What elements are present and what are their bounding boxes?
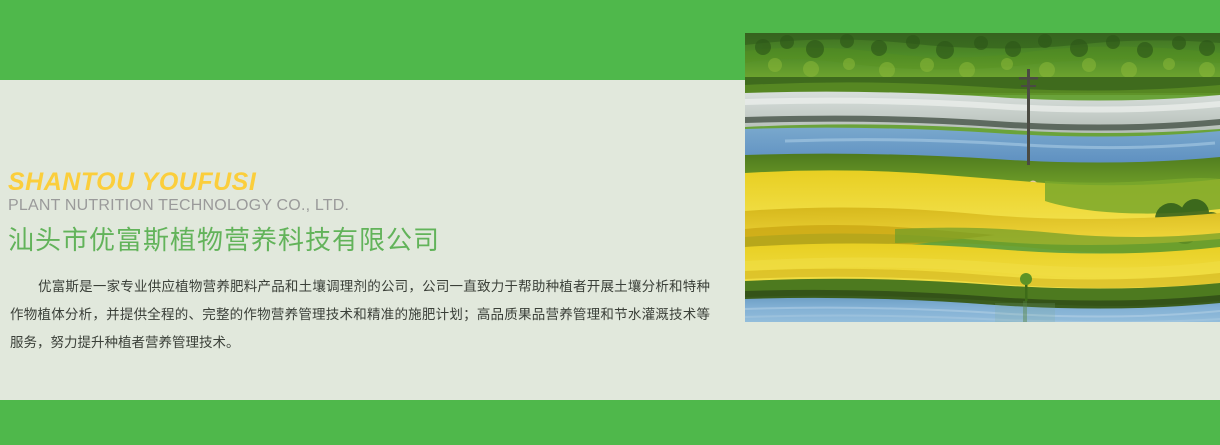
farm-field-photo <box>745 33 1220 322</box>
brand-name-chinese: 汕头市优富斯植物营养科技有限公司 <box>8 220 440 257</box>
page-root: SHANTOU YOUFUSI PLANT NUTRITION TECHNOLO… <box>0 0 1220 445</box>
bottom-green-banner <box>0 400 1220 445</box>
brand-name-english: SHANTOU YOUFUSI <box>8 168 256 197</box>
brand-tagline-english: PLANT NUTRITION TECHNOLOGY CO., LTD. <box>8 197 349 215</box>
company-intro-section: SHANTOU YOUFUSI PLANT NUTRITION TECHNOLO… <box>0 80 745 400</box>
farm-field-illustration <box>745 33 1220 322</box>
company-description-paragraph: 优富斯是一家专业供应植物营养肥料产品和土壤调理剂的公司，公司一直致力于帮助种植者… <box>10 273 710 357</box>
